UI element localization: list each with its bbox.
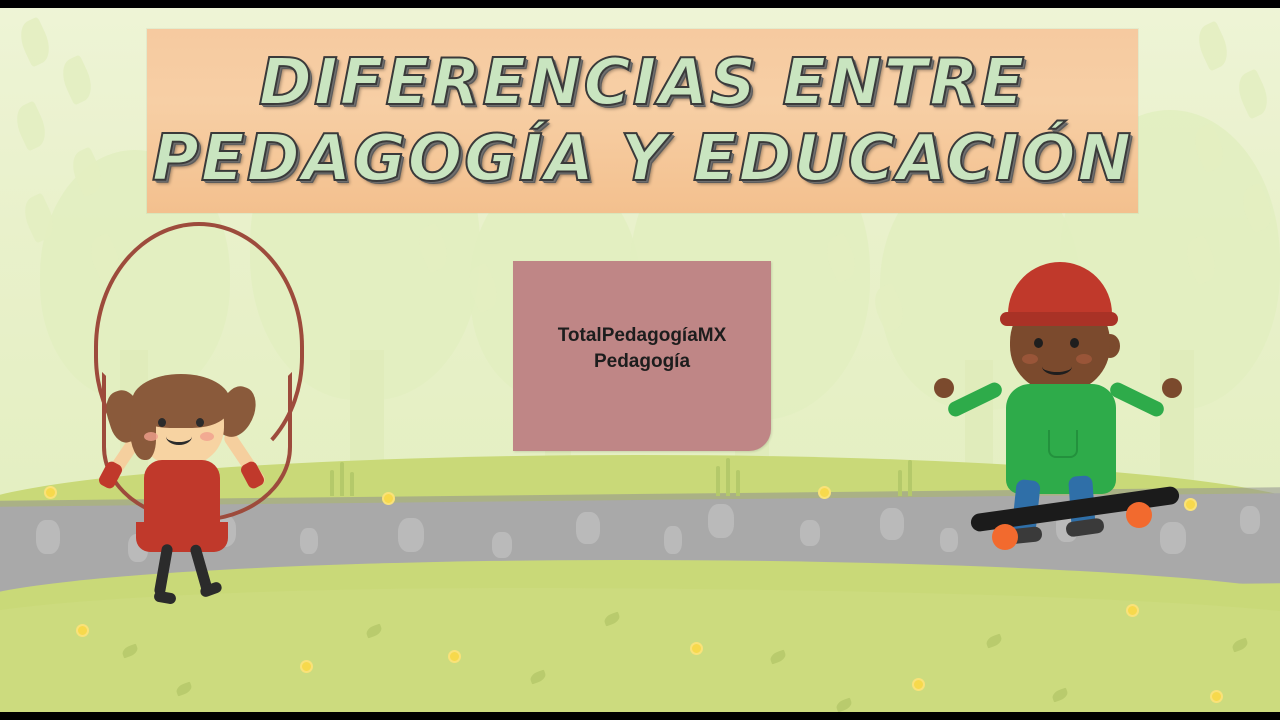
slide-title: DIFERENCIAS ENTRE PEDAGOGÍA Y EDUCACIÓN — [147, 45, 1138, 197]
content-card-text: TotalPedagogíaMX Pedagogía — [513, 323, 771, 375]
girl-jumping-rope-illustration — [78, 222, 328, 582]
boy-cheek-left — [1022, 354, 1038, 364]
girl-eye-left — [158, 418, 166, 427]
letterbox-bottom — [0, 712, 1280, 720]
foreground-grass-second — [0, 588, 1280, 720]
boy-skateboard-illustration — [930, 262, 1220, 562]
girl-cheek-right — [200, 432, 214, 441]
boy-helmet-brim — [1000, 312, 1118, 326]
girl-skirt — [136, 522, 228, 552]
skateboard-wheel-left — [992, 524, 1018, 550]
boy-hand-left — [934, 378, 954, 398]
boy-smile — [1042, 358, 1072, 375]
boy-arm-right — [1108, 380, 1167, 419]
letterbox-top — [0, 0, 1280, 8]
boy-arm-left — [946, 380, 1005, 419]
boy-cheek-right — [1076, 354, 1092, 364]
girl-eye-right — [196, 418, 204, 427]
boy-eye-right — [1070, 338, 1079, 348]
boy-eye-left — [1034, 338, 1043, 348]
slide-canvas: DIFERENCIAS ENTRE PEDAGOGÍA Y EDUCACIÓN … — [0, 0, 1280, 720]
skateboard-wheel-right — [1126, 502, 1152, 528]
boy-hand-right — [1162, 378, 1182, 398]
content-card: TotalPedagogíaMX Pedagogía — [513, 261, 771, 451]
girl-smile — [166, 428, 192, 445]
boy-shirt-pocket — [1048, 430, 1078, 458]
girl-cheek-left — [144, 432, 158, 441]
title-banner: DIFERENCIAS ENTRE PEDAGOGÍA Y EDUCACIÓN — [147, 29, 1138, 213]
